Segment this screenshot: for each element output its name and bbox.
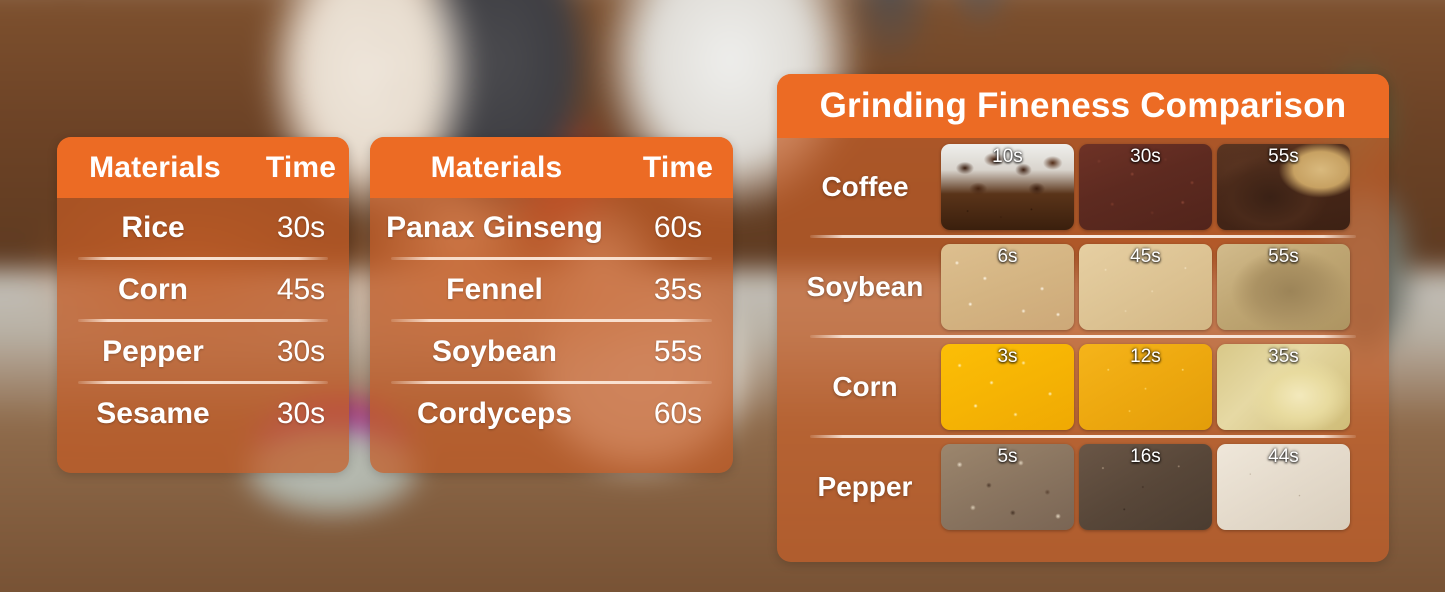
comparison-row-corn: Corn 3s 12s 35s: [777, 338, 1389, 435]
tile-time-label: 55s: [1217, 146, 1350, 168]
grinding-fineness-comparison-panel: Grinding Fineness Comparison Coffee 10s …: [777, 74, 1389, 562]
tile-time-label: 10s: [941, 146, 1074, 168]
table-2-header-time: Time: [623, 151, 733, 185]
table-2-time-2: 55s: [623, 335, 733, 369]
tile-time-label: 35s: [1217, 346, 1350, 368]
table-2-material-2: Soybean: [370, 335, 623, 369]
table-row: Rice 30s: [57, 198, 349, 257]
table-1-time-3: 30s: [253, 397, 349, 431]
tile-time-label: 44s: [1217, 446, 1350, 468]
comparison-row-pepper: Pepper 5s 16s 44s: [777, 438, 1389, 535]
table-2-time-3: 60s: [623, 397, 733, 431]
sample-tile[interactable]: 55s: [1217, 144, 1350, 230]
table-row: Soybean 55s: [370, 322, 733, 381]
tile-time-label: 12s: [1079, 346, 1212, 368]
sample-tile[interactable]: 12s: [1079, 344, 1212, 430]
table-2-time-1: 35s: [623, 273, 733, 307]
table-2-header-materials: Materials: [370, 151, 623, 185]
sample-tile[interactable]: 55s: [1217, 244, 1350, 330]
comparison-label-corn: Corn: [789, 371, 941, 403]
sample-tile[interactable]: 30s: [1079, 144, 1212, 230]
tile-time-label: 6s: [941, 246, 1074, 268]
table-1-time-2: 30s: [253, 335, 349, 369]
tile-time-label: 30s: [1079, 146, 1212, 168]
table-2-material-1: Fennel: [370, 273, 623, 307]
sample-tile[interactable]: 16s: [1079, 444, 1212, 530]
table-row: Fennel 35s: [370, 260, 733, 319]
table-2-rows: Panax Ginseng 60s Fennel 35s Soybean 55s…: [370, 198, 733, 443]
comparison-label-soybean: Soybean: [789, 271, 941, 303]
table-row: Sesame 30s: [57, 384, 349, 443]
tile-time-label: 55s: [1217, 246, 1350, 268]
table-1-header-materials: Materials: [57, 151, 253, 185]
materials-table-2: Materials Time Panax Ginseng 60s Fennel …: [370, 137, 733, 473]
comparison-row-soybean: Soybean 6s 45s 55s: [777, 238, 1389, 335]
table-1-material-1: Corn: [57, 273, 253, 307]
table-1-material-0: Rice: [57, 211, 253, 245]
sample-tile[interactable]: 6s: [941, 244, 1074, 330]
table-row: Pepper 30s: [57, 322, 349, 381]
comparison-label-pepper: Pepper: [789, 471, 941, 503]
sample-tile[interactable]: 3s: [941, 344, 1074, 430]
comparison-label-coffee: Coffee: [789, 171, 941, 203]
table-2-material-3: Cordyceps: [370, 397, 623, 431]
comparison-rows: Coffee 10s 30s 55s Soybean: [777, 138, 1389, 535]
comparison-tiles-corn: 3s 12s 35s: [941, 344, 1377, 430]
comparison-tiles-soybean: 6s 45s 55s: [941, 244, 1377, 330]
table-1-rows: Rice 30s Corn 45s Pepper 30s Sesame 30s: [57, 198, 349, 443]
comparison-title-bar: Grinding Fineness Comparison: [777, 74, 1389, 138]
sample-tile[interactable]: 44s: [1217, 444, 1350, 530]
table-2-time-0: 60s: [623, 211, 733, 245]
table-1-time-1: 45s: [253, 273, 349, 307]
materials-table-1: Materials Time Rice 30s Corn 45s Pepper …: [57, 137, 349, 473]
table-1-material-2: Pepper: [57, 335, 253, 369]
tile-time-label: 3s: [941, 346, 1074, 368]
table-row: Cordyceps 60s: [370, 384, 733, 443]
comparison-row-coffee: Coffee 10s 30s 55s: [777, 138, 1389, 235]
sample-tile[interactable]: 5s: [941, 444, 1074, 530]
tile-time-label: 16s: [1079, 446, 1212, 468]
comparison-tiles-pepper: 5s 16s 44s: [941, 444, 1377, 530]
page-title: Grinding Fineness Comparison: [820, 86, 1347, 126]
table-2-header-row: Materials Time: [370, 137, 733, 198]
tile-time-label: 5s: [941, 446, 1074, 468]
table-1-header-row: Materials Time: [57, 137, 349, 198]
tile-time-label: 45s: [1079, 246, 1212, 268]
sample-tile[interactable]: 45s: [1079, 244, 1212, 330]
table-row: Corn 45s: [57, 260, 349, 319]
table-1-time-0: 30s: [253, 211, 349, 245]
sample-tile[interactable]: 10s: [941, 144, 1074, 230]
table-1-header-time: Time: [253, 151, 349, 185]
comparison-tiles-coffee: 10s 30s 55s: [941, 144, 1377, 230]
table-row: Panax Ginseng 60s: [370, 198, 733, 257]
sample-tile[interactable]: 35s: [1217, 344, 1350, 430]
table-2-material-0: Panax Ginseng: [370, 211, 623, 245]
table-1-material-3: Sesame: [57, 397, 253, 431]
